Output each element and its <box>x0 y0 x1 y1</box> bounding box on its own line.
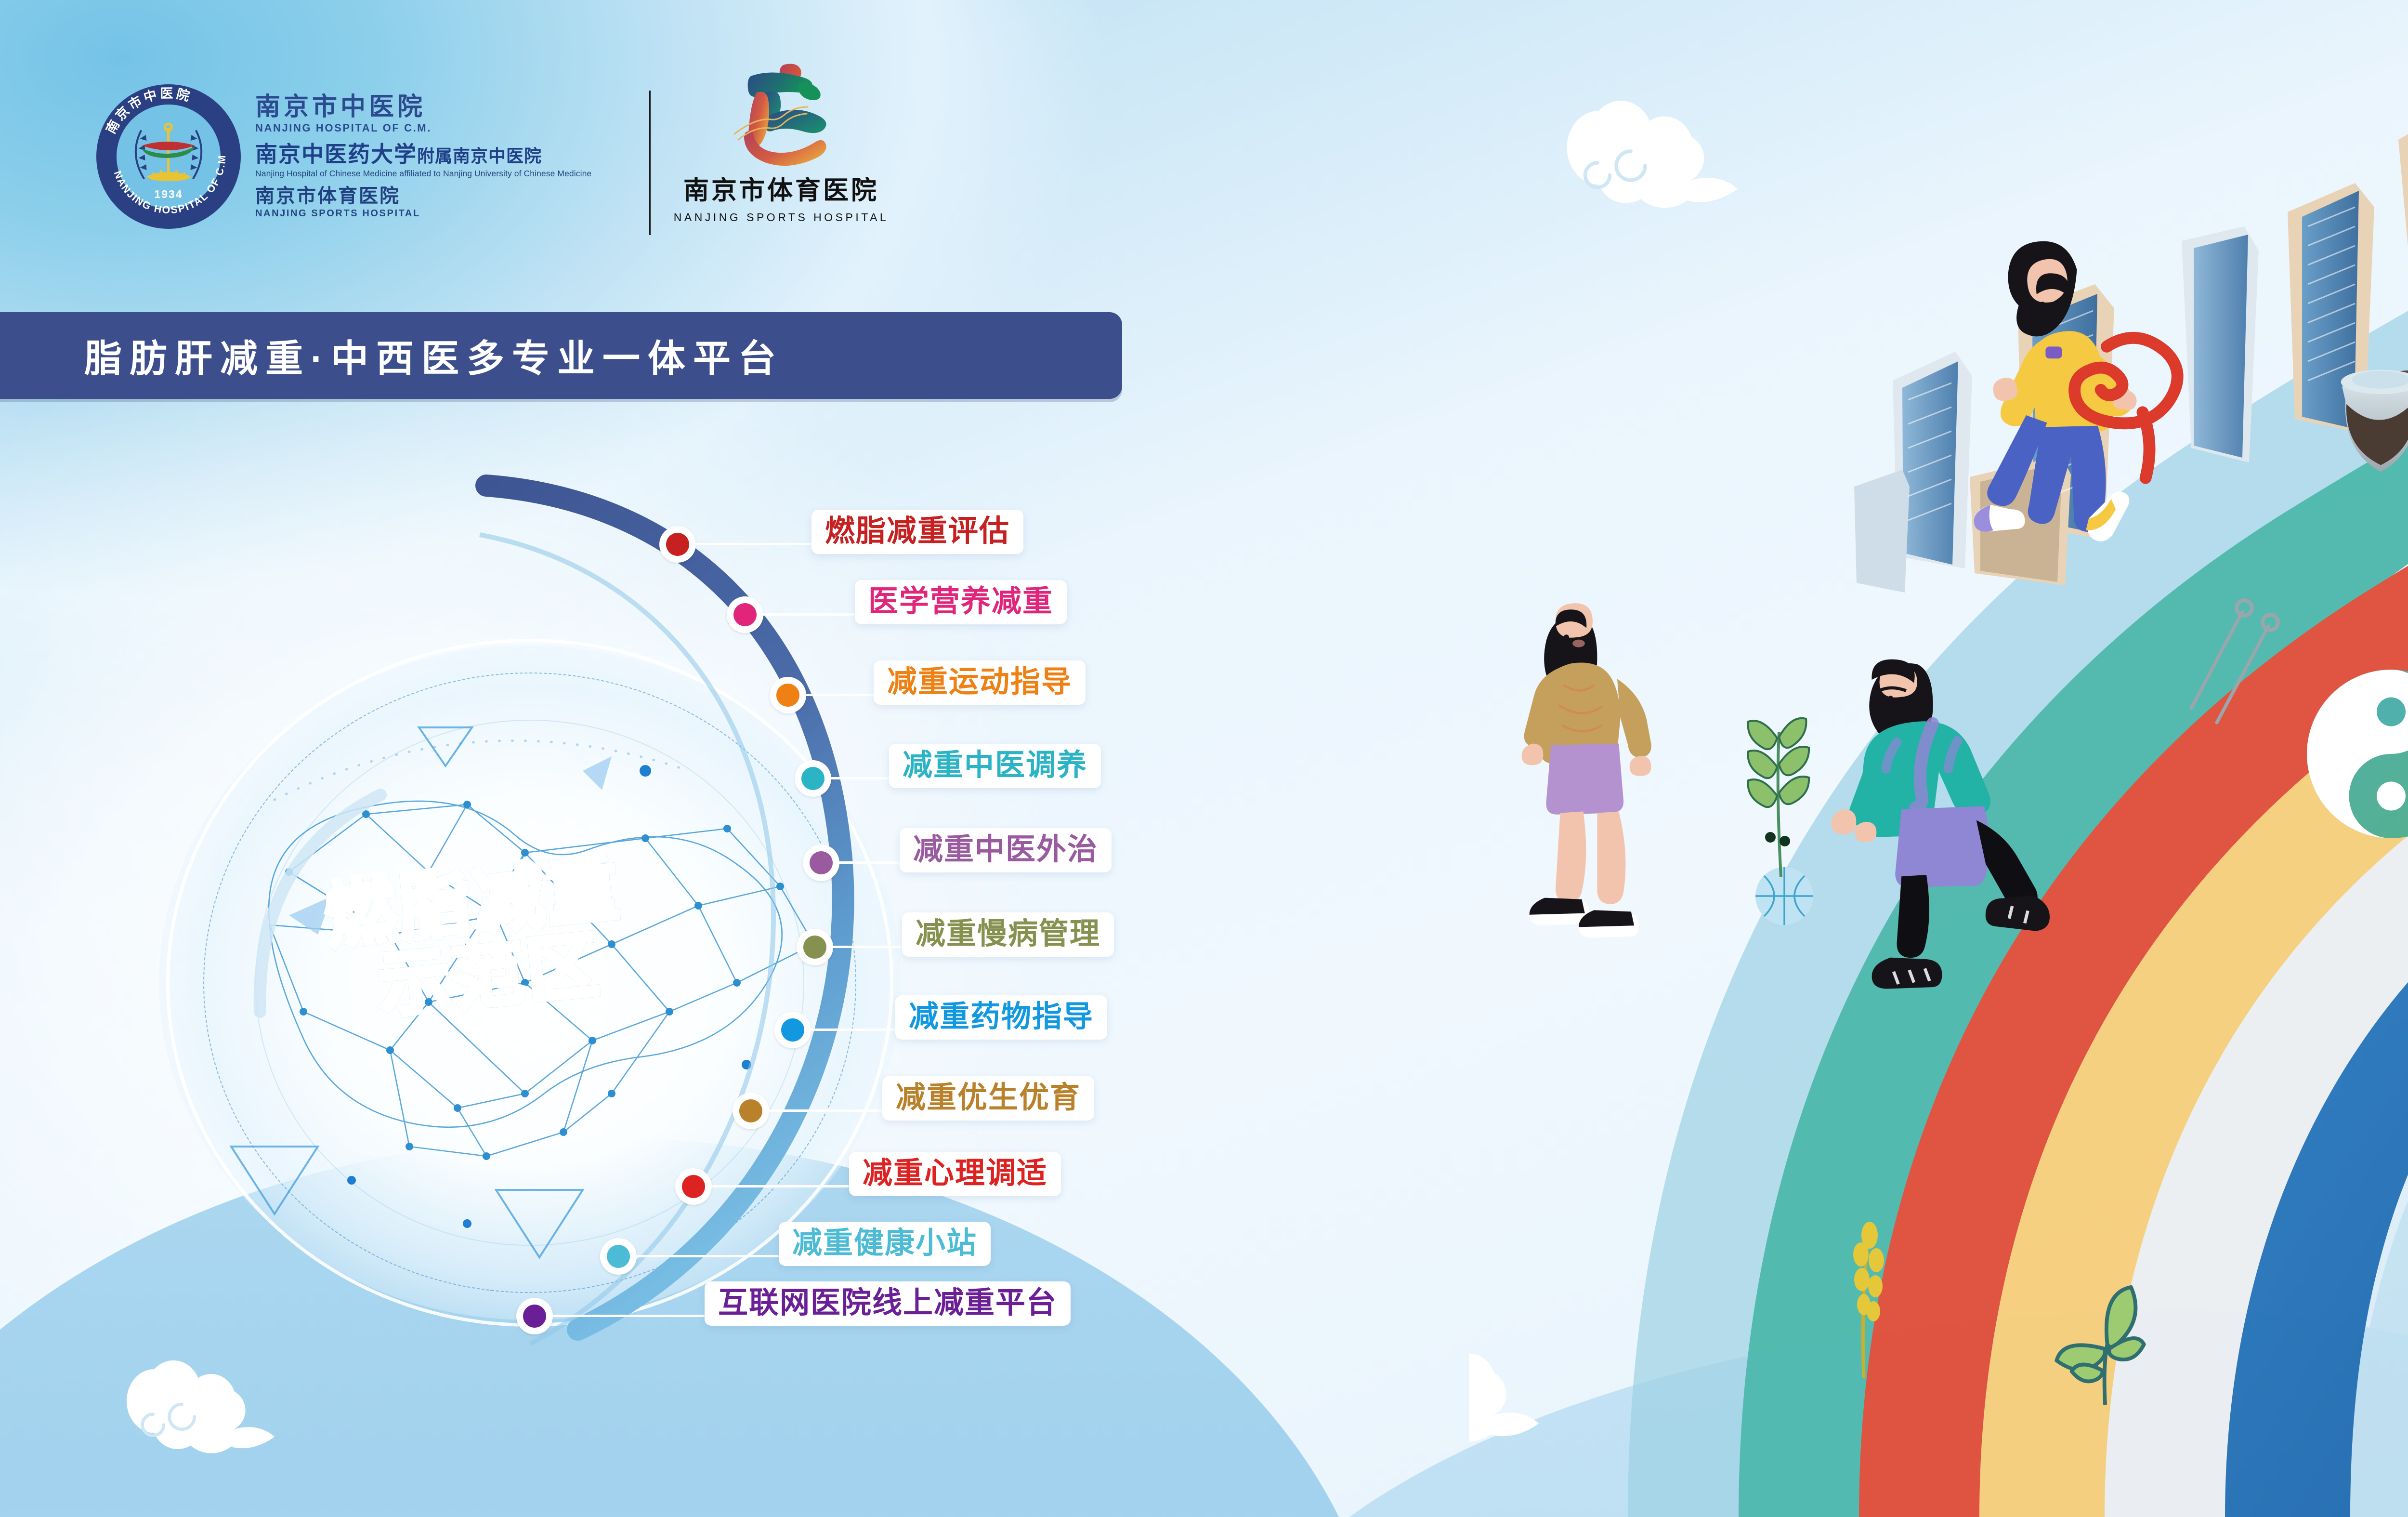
service-label-11[interactable]: 互联网医院线上减重平台 <box>705 1281 1071 1326</box>
node-dot <box>776 684 799 707</box>
service-label-3[interactable]: 减重运动指导 <box>874 660 1086 705</box>
service-label-text: 减重慢病管理 <box>916 919 1100 949</box>
service-label-6[interactable]: 减重慢病管理 <box>902 912 1114 957</box>
leader-line-5 <box>837 861 900 864</box>
service-label-text: 减重中医外治 <box>913 835 1098 865</box>
service-label-text: 燃脂减重评估 <box>825 516 1010 546</box>
service-label-10[interactable]: 减重健康小站 <box>779 1222 991 1266</box>
service-label-text: 减重运动指导 <box>887 667 1072 697</box>
leader-line-2 <box>761 613 855 616</box>
yun-calligraphy-icon <box>721 63 841 166</box>
service-label-8[interactable]: 减重优生优育 <box>882 1076 1094 1121</box>
node-dot <box>810 851 833 874</box>
node-dot <box>733 603 757 626</box>
title-banner: 脂肪肝减重·中西医多专业一体平台 <box>0 312 1122 399</box>
service-label-text: 减重心理调适 <box>863 1159 1047 1188</box>
logo-line3-cn: 南京市体育医院 <box>255 185 591 207</box>
leader-line-6 <box>831 946 902 948</box>
hospital-seal-logo: 南京市中医院 NANJING HOSPITAL OF C.M. <box>96 84 241 229</box>
logo-line1-cn: 南京市中医院 <box>255 94 591 120</box>
logo-line2-cn: 南京中医药大学附属南京中医院 <box>255 143 591 167</box>
leader-line-10 <box>634 1255 779 1257</box>
poster-canvas: 南京市中医院 NANJING HOSPITAL OF C.M. <box>0 0 2408 1517</box>
logo-line3-en: NANJING SPORTS HOSPITAL <box>255 208 591 219</box>
node-dot <box>781 1018 804 1042</box>
banner-title: 脂肪肝减重·中西医多专业一体平台 <box>84 329 784 383</box>
service-label-4[interactable]: 减重中医调养 <box>889 744 1101 788</box>
left-logo-lockup: 南京市中医院 NANJING HOSPITAL OF C.M. <box>96 84 591 229</box>
service-node-11[interactable] <box>516 1298 553 1334</box>
leader-line-3 <box>804 694 874 696</box>
node-dot <box>682 1175 705 1198</box>
leader-line-8 <box>767 1109 882 1112</box>
logo-divider <box>649 91 651 235</box>
service-node-7[interactable] <box>774 1012 811 1048</box>
leader-line-1 <box>694 543 811 545</box>
service-node-9[interactable] <box>675 1168 712 1205</box>
figure-woman-walking <box>1522 603 1651 938</box>
leader-line-9 <box>709 1185 849 1187</box>
logo-line2-cn-main: 南京中医药大学 <box>255 142 417 167</box>
service-label-1[interactable]: 燃脂减重评估 <box>811 510 1023 554</box>
service-label-2[interactable]: 医学营养减重 <box>855 580 1067 624</box>
service-node-4[interactable] <box>795 760 831 797</box>
service-label-text: 互联网医院线上减重平台 <box>718 1288 1057 1318</box>
logo-line2-en: Nanjing Hospital of Chinese Medicine aff… <box>255 169 591 179</box>
service-node-5[interactable] <box>803 844 839 881</box>
service-label-9[interactable]: 减重心理调适 <box>849 1152 1061 1196</box>
sports-hospital-name-en: NANJING SPORTS HOSPITAL <box>670 211 892 224</box>
node-dot <box>739 1099 762 1122</box>
service-node-3[interactable] <box>770 677 806 713</box>
leader-line-7 <box>809 1029 895 1031</box>
sports-hospital-lockup: 南京市体育医院 NANJING SPORTS HOSPITAL <box>670 63 892 224</box>
sports-hospital-name-cn: 南京市体育医院 <box>670 170 892 207</box>
service-node-1[interactable] <box>659 526 696 563</box>
service-label-text: 减重优生优育 <box>896 1083 1081 1113</box>
service-label-text: 减重健康小站 <box>792 1228 977 1258</box>
service-label-text: 减重药物指导 <box>909 1002 1094 1032</box>
basketball-icon <box>1755 867 1813 925</box>
header: 南京市中医院 NANJING HOSPITAL OF C.M. <box>0 0 2408 289</box>
service-node-6[interactable] <box>797 929 833 965</box>
seal-emblem <box>127 120 211 193</box>
service-node-10[interactable] <box>600 1238 637 1275</box>
service-label-text: 减重中医调养 <box>903 751 1087 780</box>
service-node-2[interactable] <box>727 596 763 633</box>
leader-line-11 <box>550 1315 705 1317</box>
node-dot <box>666 533 689 556</box>
service-node-8[interactable] <box>733 1093 769 1129</box>
auspicious-cloud-bottom-left <box>116 1344 275 1469</box>
node-dot <box>803 936 826 959</box>
auspicious-cloud-lower <box>1469 1338 1539 1442</box>
seal-year: 1934 <box>96 188 241 201</box>
service-label-5[interactable]: 减重中医外治 <box>900 828 1112 872</box>
logo-line2-cn-sub: 附属南京中医院 <box>417 146 542 166</box>
service-label-7[interactable]: 减重药物指导 <box>895 995 1107 1040</box>
left-logo-text: 南京市中医院 NANJING HOSPITAL OF C.M. 南京中医药大学附… <box>255 94 591 220</box>
service-label-text: 医学营养减重 <box>868 587 1053 617</box>
node-dot <box>801 767 824 790</box>
node-dot <box>523 1305 546 1328</box>
logo-line1-en: NANJING HOSPITAL OF C.M. <box>255 122 591 134</box>
node-dot <box>607 1245 630 1268</box>
leader-line-4 <box>829 777 889 779</box>
